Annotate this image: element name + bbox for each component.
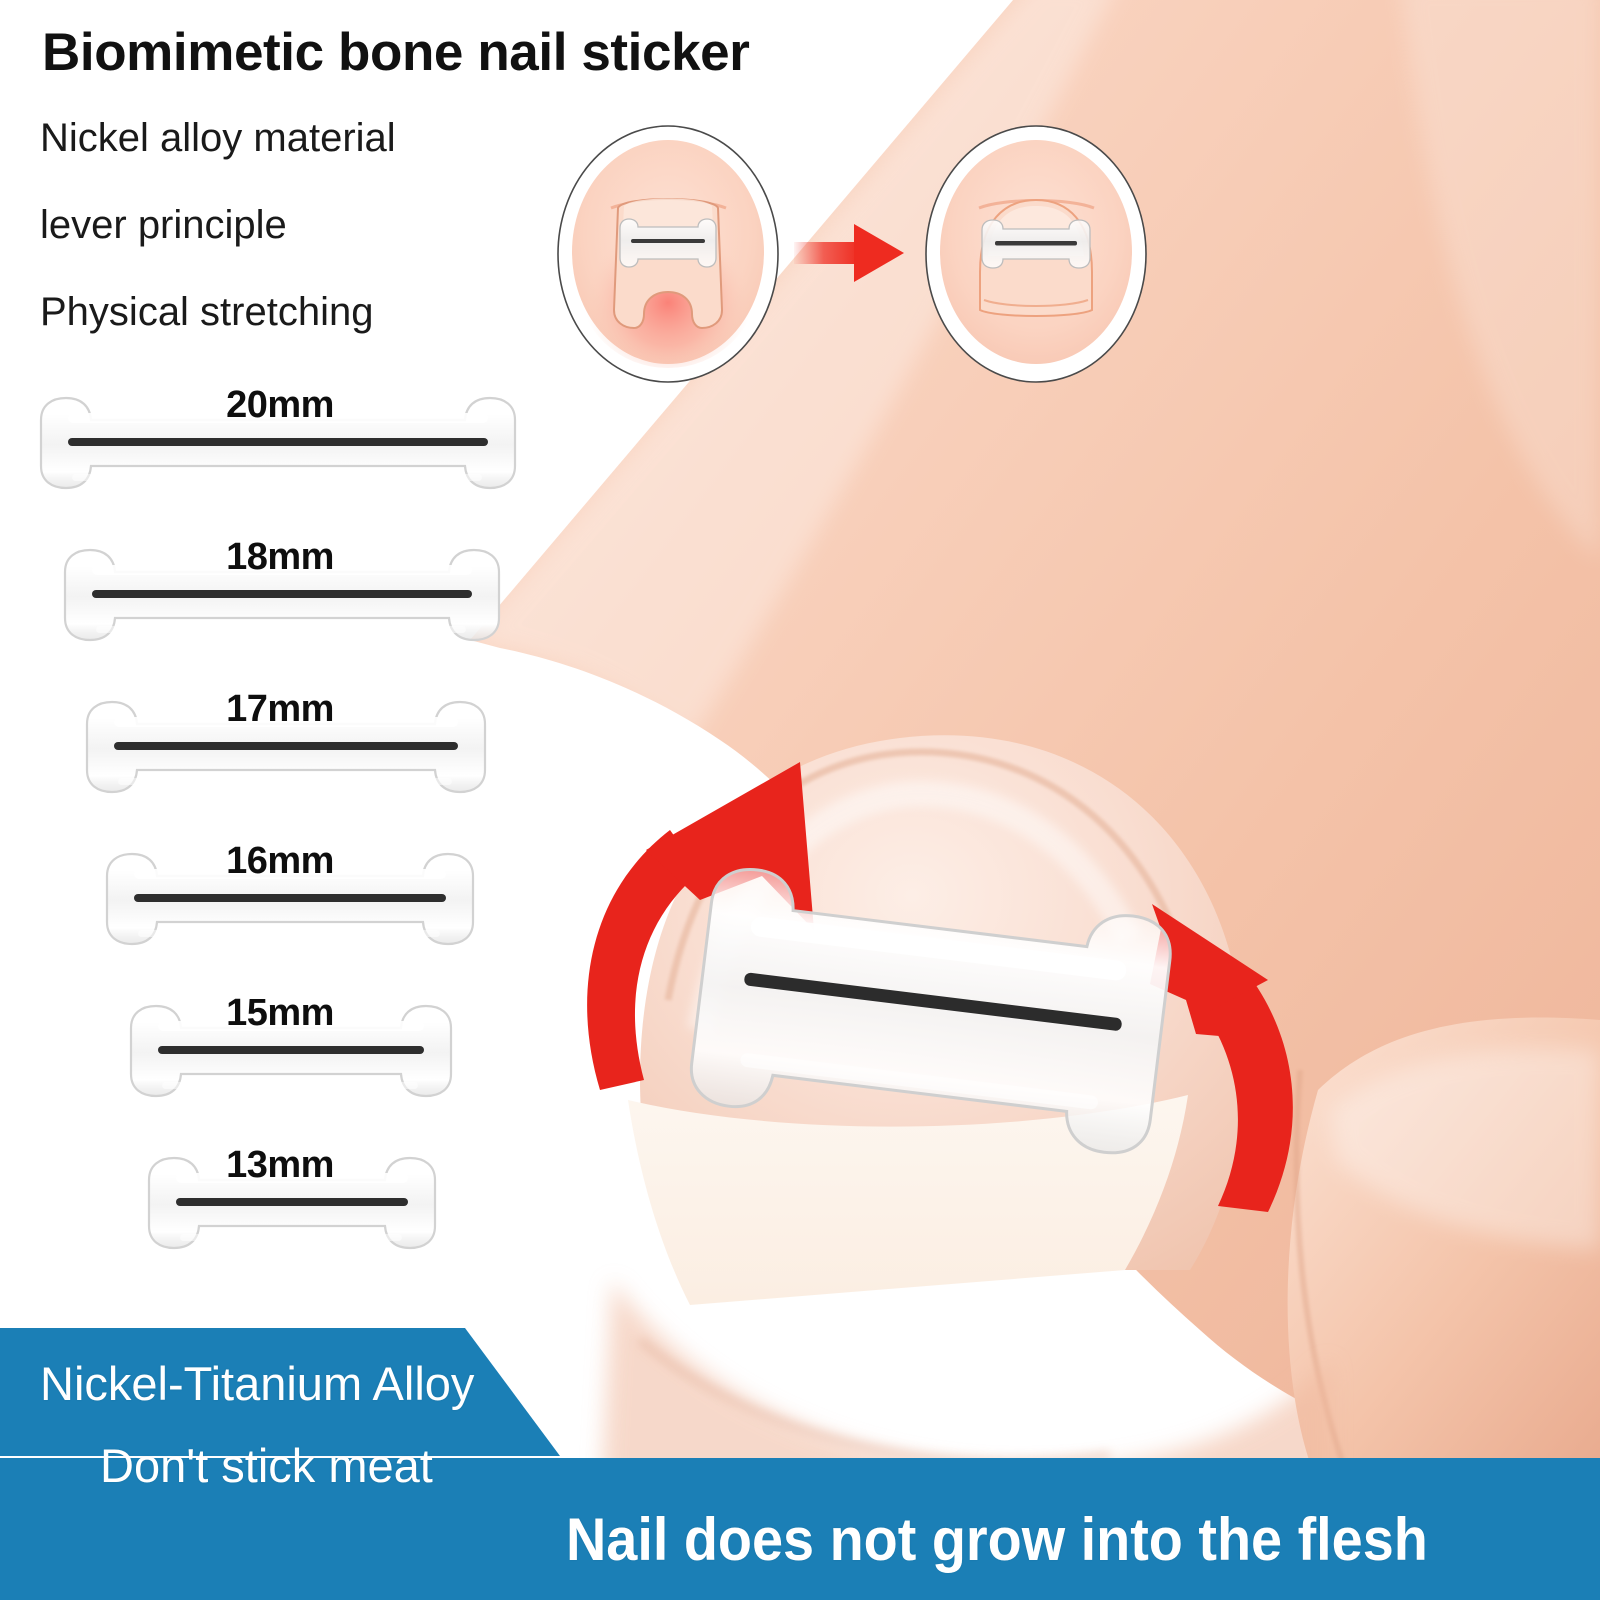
size-chart: 20mm 18mm 17mm: [0, 392, 560, 1254]
feature-bullet: Physical stretching: [40, 292, 560, 332]
banner-line-3: Nail does not grow into the flesh: [566, 1505, 1428, 1574]
size-label: 17mm: [0, 688, 560, 731]
size-row: 15mm: [0, 1000, 560, 1102]
size-label: 18mm: [0, 536, 560, 579]
size-row: 13mm: [0, 1152, 560, 1254]
size-row: 20mm: [0, 392, 560, 494]
diagram-after-circle: [926, 126, 1146, 382]
size-row: 18mm: [0, 544, 560, 646]
feature-bullet: Nickel alloy material: [40, 118, 560, 158]
right-arrow-icon: [794, 224, 904, 282]
feature-bullet-list: Nickel alloy material lever principle Ph…: [40, 118, 560, 379]
size-label: 20mm: [0, 384, 560, 427]
page-title: Biomimetic bone nail sticker: [42, 22, 749, 83]
size-label: 13mm: [0, 1144, 560, 1187]
before-after-diagram: [536, 96, 1176, 416]
size-row: 16mm: [0, 848, 560, 950]
size-label: 15mm: [0, 992, 560, 1035]
product-poster: Biomimetic bone nail sticker Nickel allo…: [0, 0, 1600, 1600]
size-row: 17mm: [0, 696, 560, 798]
banner-line-2: Don't stick meat: [100, 1438, 433, 1493]
banner-line-1: Nickel-Titanium Alloy: [40, 1356, 474, 1411]
feature-bullet: lever principle: [40, 205, 560, 245]
diagram-before-circle: [558, 126, 778, 382]
size-label: 16mm: [0, 840, 560, 883]
